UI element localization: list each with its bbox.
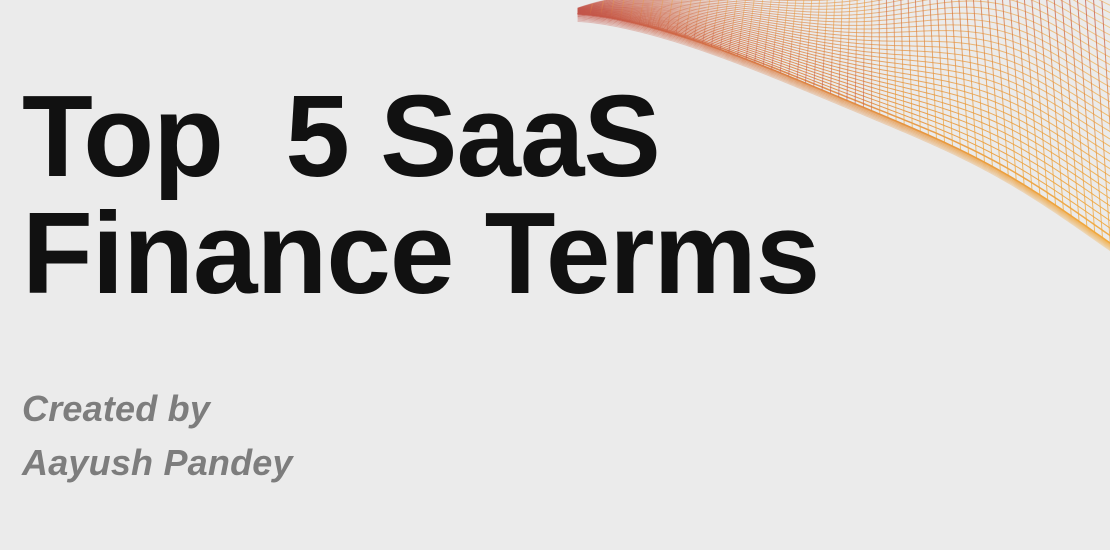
byline-author: Aayush Pandey bbox=[22, 436, 293, 490]
title-line-2: Finance Terms bbox=[22, 195, 819, 312]
byline: Created by Aayush Pandey bbox=[22, 382, 293, 490]
slide-canvas: Top 5 SaaS Finance Terms Created by Aayu… bbox=[0, 0, 1110, 550]
title-line-1: Top 5 SaaS bbox=[22, 78, 819, 195]
byline-label: Created by bbox=[22, 382, 293, 436]
page-title: Top 5 SaaS Finance Terms bbox=[22, 78, 819, 312]
